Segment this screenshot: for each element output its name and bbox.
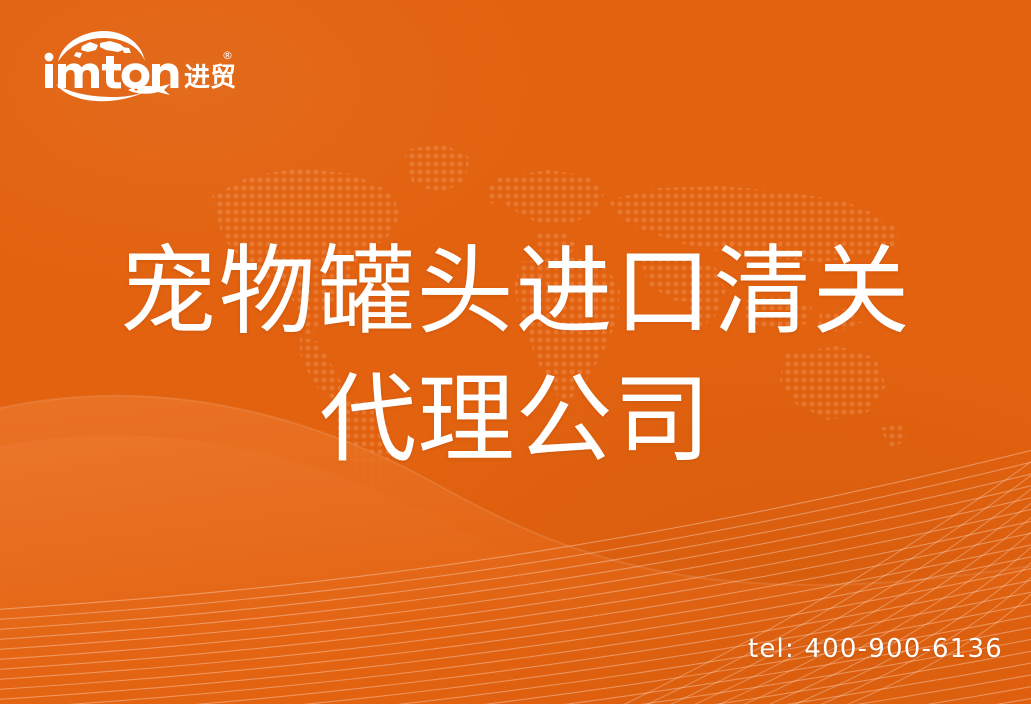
globe-arc-icon [58,31,145,62]
headline-line-2: 代理公司 [0,356,1031,484]
logo-wordmark [45,53,179,89]
logo-chinese-name: 进贸通 [184,63,236,93]
headline: 宠物罐头进口清关 代理公司 [0,228,1031,484]
headline-line-1: 宠物罐头进口清关 [0,228,1031,356]
trademark-icon: ® [222,49,233,62]
banner-canvas: 进贸通 ® 宠物罐头进口清关 代理公司 tel: 400-900-6136 [0,0,1031,704]
brand-logo[interactable]: 进贸通 ® [36,28,236,102]
contact-phone[interactable]: tel: 400-900-6136 [748,634,1003,664]
